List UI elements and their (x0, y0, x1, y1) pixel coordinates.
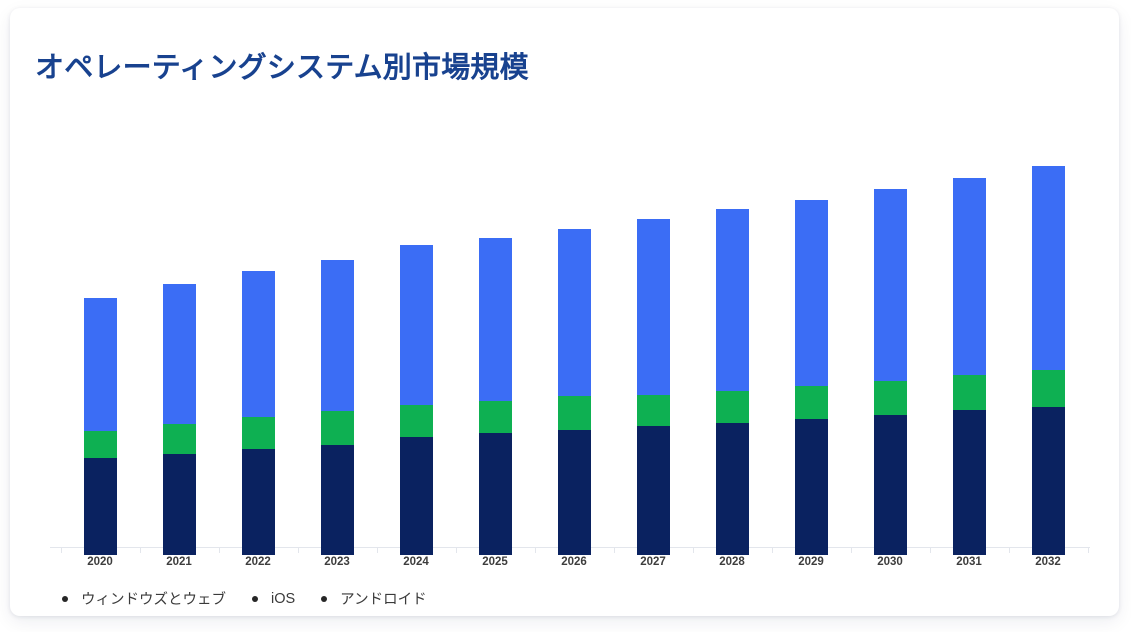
bar-segment-windows-web-2021[interactable] (163, 284, 196, 424)
bar-segment-windows-web-2020[interactable] (84, 298, 117, 431)
bar-segment-ios-2022[interactable] (242, 417, 275, 449)
bar-segment-windows-web-2024[interactable] (400, 245, 433, 405)
bar-segment-ios-2031[interactable] (953, 375, 986, 410)
bar-2027[interactable] (637, 219, 670, 555)
x-axis-label-2025: 2025 (465, 556, 525, 568)
x-axis-label-2029: 2029 (781, 556, 841, 568)
bar-segment-windows-web-2025[interactable] (479, 238, 512, 401)
x-axis-label-2023: 2023 (307, 556, 367, 568)
bar-2026[interactable] (558, 229, 591, 555)
bar-2024[interactable] (400, 245, 433, 555)
bar-2023[interactable] (321, 260, 354, 555)
bar-segment-ios-2029[interactable] (795, 386, 828, 419)
x-tick-2031 (930, 547, 931, 553)
bar-2031[interactable] (953, 178, 986, 555)
bar-segment-ios-2032[interactable] (1032, 370, 1065, 407)
bar-2032[interactable] (1032, 166, 1065, 555)
x-axis-label-2021: 2021 (149, 556, 209, 568)
x-tick-2032 (1009, 547, 1010, 553)
legend-item-0[interactable]: ウィンドウズとウェブ (62, 588, 226, 609)
bar-segment-ios-2024[interactable] (400, 405, 433, 437)
bullet-dot-icon (252, 596, 258, 602)
bar-segment-windows-web-2031[interactable] (953, 178, 986, 375)
bar-segment-android-2022[interactable] (242, 449, 275, 555)
bar-segment-windows-web-2027[interactable] (637, 219, 670, 395)
screenshot-root: オペレーティングシステム別市場規模 2020202120222023202420… (0, 0, 1131, 632)
bar-2021[interactable] (163, 284, 196, 555)
bar-segment-ios-2023[interactable] (321, 411, 354, 445)
bar-segment-ios-2026[interactable] (558, 396, 591, 430)
x-tick-2023 (298, 547, 299, 553)
bar-segment-windows-web-2032[interactable] (1032, 166, 1065, 370)
x-tick-2028 (693, 547, 694, 553)
bar-segment-android-2032[interactable] (1032, 407, 1065, 555)
x-axis-label-2031: 2031 (939, 556, 999, 568)
x-tick-2029 (772, 547, 773, 553)
bar-2028[interactable] (716, 209, 749, 555)
x-axis-label-2027: 2027 (623, 556, 683, 568)
bar-segment-android-2028[interactable] (716, 423, 749, 555)
bar-segment-android-2023[interactable] (321, 445, 354, 555)
legend-item-label: iOS (271, 591, 295, 607)
bar-segment-ios-2027[interactable] (637, 395, 670, 426)
bar-segment-windows-web-2022[interactable] (242, 271, 275, 417)
bar-2029[interactable] (795, 200, 828, 555)
stacked-bar-chart: 2020202120222023202420252026202720282029… (10, 8, 1119, 616)
bar-segment-android-2025[interactable] (479, 433, 512, 555)
chart-card: オペレーティングシステム別市場規模 2020202120222023202420… (10, 8, 1119, 616)
x-axis-label-2020: 2020 (70, 556, 130, 568)
legend-item-label: ウィンドウズとウェブ (81, 588, 226, 609)
bar-segment-android-2027[interactable] (637, 426, 670, 555)
bar-segment-windows-web-2026[interactable] (558, 229, 591, 396)
bullet-dot-icon (321, 596, 327, 602)
bar-segment-android-2024[interactable] (400, 437, 433, 555)
x-tick-2026 (535, 547, 536, 553)
bar-segment-windows-web-2030[interactable] (874, 189, 907, 381)
x-tick-2024 (377, 547, 378, 553)
bar-segment-ios-2020[interactable] (84, 431, 117, 458)
x-axis-label-2030: 2030 (860, 556, 920, 568)
legend-item-1[interactable]: iOS (252, 591, 295, 607)
legend-item-2[interactable]: アンドロイド (321, 588, 426, 609)
bar-segment-android-2026[interactable] (558, 430, 591, 555)
x-tick-end (1088, 547, 1089, 553)
x-tick-2030 (851, 547, 852, 553)
x-tick-2022 (219, 547, 220, 553)
x-tick-2027 (614, 547, 615, 553)
bar-segment-ios-2025[interactable] (479, 401, 512, 433)
x-axis-label-2028: 2028 (702, 556, 762, 568)
x-tick-2020 (61, 547, 62, 553)
chart-legend: ウィンドウズとウェブiOSアンドロイド (62, 588, 453, 609)
legend-item-label: アンドロイド (340, 588, 426, 609)
bar-2020[interactable] (84, 298, 117, 555)
x-axis-label-2026: 2026 (544, 556, 604, 568)
x-axis-label-2024: 2024 (386, 556, 446, 568)
bar-segment-android-2031[interactable] (953, 410, 986, 555)
x-tick-2025 (456, 547, 457, 553)
bar-2025[interactable] (479, 238, 512, 555)
x-axis-label-2032: 2032 (1018, 556, 1078, 568)
bar-segment-windows-web-2029[interactable] (795, 200, 828, 386)
bar-segment-windows-web-2028[interactable] (716, 209, 749, 391)
bar-segment-android-2020[interactable] (84, 458, 117, 555)
bar-segment-ios-2030[interactable] (874, 381, 907, 415)
bar-segment-ios-2021[interactable] (163, 424, 196, 454)
bar-segment-ios-2028[interactable] (716, 391, 749, 423)
bar-2030[interactable] (874, 189, 907, 555)
bar-segment-android-2030[interactable] (874, 415, 907, 555)
bullet-dot-icon (62, 596, 68, 602)
bar-segment-windows-web-2023[interactable] (321, 260, 354, 411)
bar-segment-android-2029[interactable] (795, 419, 828, 555)
x-axis-label-2022: 2022 (228, 556, 288, 568)
bar-segment-android-2021[interactable] (163, 454, 196, 555)
x-tick-2021 (140, 547, 141, 553)
bar-2022[interactable] (242, 271, 275, 555)
